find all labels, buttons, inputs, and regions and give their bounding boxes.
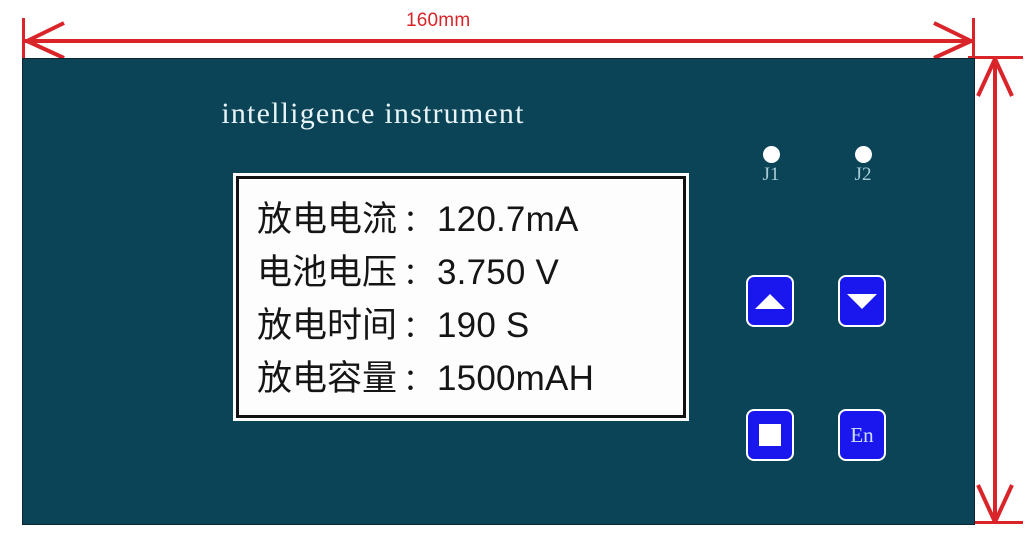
lcd-separator-0: ：: [397, 196, 437, 240]
lcd-row-discharge-capacity: 放电容量 ： 1500mAH: [257, 350, 683, 403]
led-j2-icon: [855, 146, 872, 163]
button-enter[interactable]: En: [838, 409, 886, 461]
button-down[interactable]: [838, 275, 886, 327]
square-stop-icon: [759, 424, 781, 446]
triangle-up-icon: [755, 294, 785, 309]
lcd-value-discharge-capacity: 1500mAH: [437, 359, 594, 399]
dimension-extension-line-right: [972, 18, 975, 60]
lcd-row-discharge-time: 放电时间 ： 190 S: [257, 297, 683, 350]
triangle-down-icon: [847, 294, 877, 309]
lcd-row-battery-voltage: 电池电压 ： 3.750 V: [257, 244, 683, 297]
height-dimension-arrow-bottom: [976, 483, 1014, 523]
instrument-diagram: 160mm intelligence instrument 放电电流 ： 120…: [0, 0, 1030, 535]
lcd-label-discharge-capacity: 放电容量: [257, 350, 397, 401]
lcd-label-discharge-time: 放电时间: [257, 297, 397, 348]
width-dimension-line: [24, 39, 972, 43]
height-dimension-line: [993, 58, 997, 522]
lcd-label-battery-voltage: 电池电压: [257, 244, 397, 295]
width-dimension-arrow-left: [26, 21, 66, 59]
button-stop[interactable]: [746, 409, 794, 461]
lcd-separator-3: ：: [397, 355, 437, 399]
lcd-value-battery-voltage: 3.750 V: [437, 253, 559, 293]
led-j1-icon: [763, 146, 780, 163]
lcd-value-discharge-time: 190 S: [437, 306, 529, 346]
instrument-panel: intelligence instrument 放电电流 ： 120.7mA 电…: [22, 58, 975, 525]
width-dimension-arrow-right: [932, 21, 972, 59]
indicator-group-j2: J2: [843, 146, 883, 186]
indicator-label-j1: J1: [751, 164, 791, 186]
lcd-inner-frame: 放电电流 ： 120.7mA 电池电压 ： 3.750 V 放电时间 ： 190…: [236, 176, 686, 418]
width-dimension-label: 160mm: [406, 10, 470, 32]
lcd-separator-2: ：: [397, 302, 437, 346]
lcd-screen: 放电电流 ： 120.7mA 电池电压 ： 3.750 V 放电时间 ： 190…: [233, 173, 689, 421]
indicator-label-j2: J2: [843, 164, 883, 186]
lcd-separator-1: ：: [397, 249, 437, 293]
button-up[interactable]: [746, 275, 794, 327]
button-enter-label: En: [850, 423, 873, 448]
lcd-value-discharge-current: 120.7mA: [437, 200, 579, 240]
lcd-row-discharge-current: 放电电流 ： 120.7mA: [257, 191, 683, 244]
panel-title: intelligence instrument: [23, 97, 723, 131]
lcd-label-discharge-current: 放电电流: [257, 191, 397, 242]
indicator-group-j1: J1: [751, 146, 791, 186]
height-dimension-arrow-top: [976, 58, 1014, 98]
